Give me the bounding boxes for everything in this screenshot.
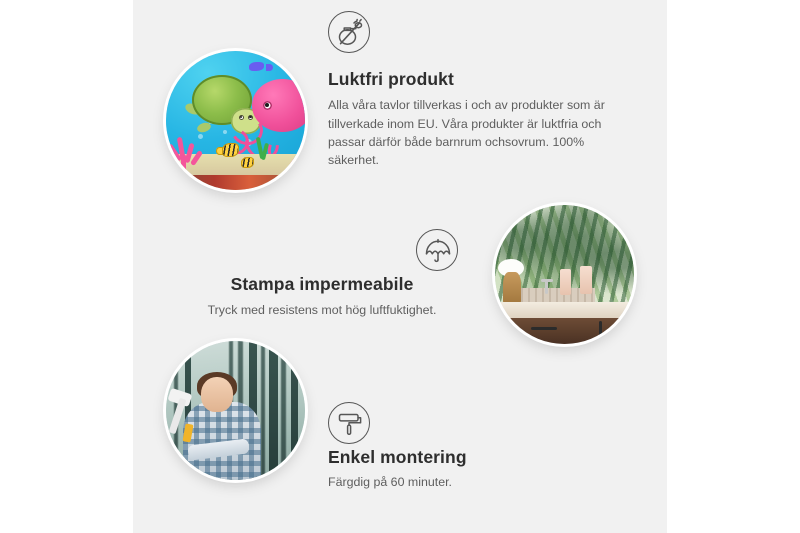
feature-title: Luktfri produkt	[328, 68, 628, 90]
no-odor-spray-bottle-icon	[328, 11, 370, 53]
towel-roll-icon	[580, 266, 592, 294]
tree-trunk	[291, 341, 298, 480]
feature-easy-mounting: Enkel montering Färgdig på 60 minuter.	[133, 341, 667, 491]
screenshot-stage: Luktfri produkt Alla våra tavlor tillver…	[0, 0, 800, 533]
ocean-bottom-band	[166, 175, 305, 190]
feature-text-easy-mounting: Enkel montering Färgdig på 60 minuter.	[328, 446, 628, 492]
product-info-canvas: Luktfri produkt Alla våra tavlor tillver…	[133, 0, 667, 533]
striped-fish-icon	[241, 157, 254, 168]
painter-face	[201, 377, 233, 412]
feature-body: Alla våra tavlor tillverkas i och av pro…	[328, 96, 628, 169]
blue-fish-tail-icon	[266, 64, 273, 71]
underwater-kids-mural-disc	[166, 51, 305, 190]
towel-roll-icon	[560, 269, 571, 295]
tree-trunk	[269, 341, 278, 480]
tree-trunk	[281, 341, 286, 480]
striped-fish-icon	[222, 143, 239, 157]
feature-title: Stampa impermeabile	[163, 273, 481, 295]
feature-odor-free: Luktfri produkt Alla våra tavlor tillver…	[133, 0, 667, 195]
tree-trunk	[261, 341, 265, 480]
faucet-icon	[545, 280, 548, 294]
feature-text-odor-free: Luktfri produkt Alla våra tavlor tillver…	[328, 68, 628, 169]
feature-text-waterproof-print: Stampa impermeabile Tryck med resistens …	[163, 273, 481, 320]
feature-body: Färgdig på 60 minuter.	[328, 473, 628, 491]
painter-forest-mural-disc	[166, 341, 305, 480]
faucet-spout-icon	[541, 279, 553, 282]
coral-icon	[181, 154, 186, 172]
umbrella-water-resistant-icon	[416, 229, 458, 271]
counter-top	[495, 302, 634, 319]
botanical-bathroom-disc	[495, 205, 634, 344]
striped-fish-tail-icon	[216, 147, 223, 155]
cabinet-handle-icon	[531, 327, 557, 330]
paint-roller-icon	[328, 402, 370, 444]
octopus-eye-icon	[263, 101, 272, 110]
feature-waterproof-print: Stampa impermeabile Tryck med resistens …	[133, 195, 667, 345]
feature-title: Enkel montering	[328, 446, 628, 468]
feature-body: Tryck med resistens mot hög luftfuktighe…	[163, 301, 481, 319]
